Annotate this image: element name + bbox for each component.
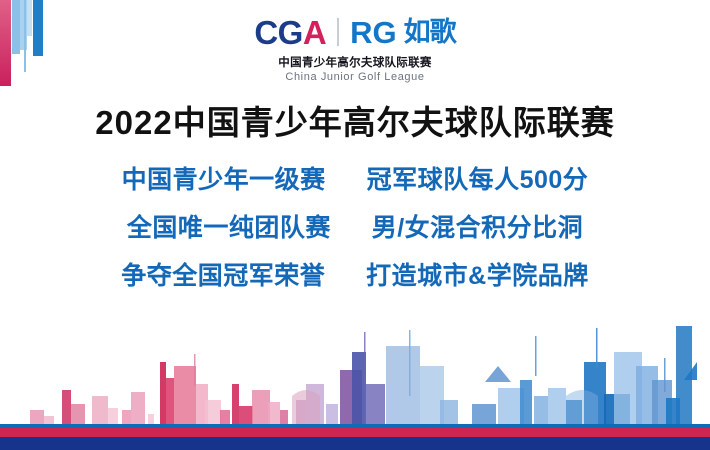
skyline-building bbox=[666, 398, 680, 424]
skyline-building bbox=[166, 378, 174, 424]
logo-subtitle-cn: 中国青少年高尔夫球队际联赛 bbox=[0, 54, 710, 70]
skyline-building bbox=[122, 410, 131, 424]
feature-list: 中国青少年一级赛 冠军球队每人500分 全国唯一纯团队赛 男/女混合积分比洞 争… bbox=[0, 158, 710, 302]
skyline-building bbox=[232, 384, 239, 424]
skyline-building bbox=[326, 404, 338, 424]
cga-wordmark: CGA bbox=[254, 16, 326, 49]
skyline-building bbox=[205, 400, 221, 424]
skyline-building bbox=[252, 390, 270, 424]
feature-line: 中国青少年一级赛 冠军球队每人500分 bbox=[0, 158, 710, 206]
footer-stripe-navy bbox=[0, 437, 710, 450]
logo-wordmark-row: CGA RG 如歌 bbox=[254, 14, 455, 50]
logo-divider bbox=[337, 18, 339, 46]
feature-line-right: 冠军球队每人500分 bbox=[367, 158, 589, 202]
skyline-building bbox=[44, 416, 54, 424]
logo-subtitle-en: China Junior Golf League bbox=[0, 71, 710, 83]
skyline-building bbox=[548, 388, 566, 424]
logo-block: CGA RG 如歌 中国青少年高尔夫球队际联赛 China Junior Gol… bbox=[0, 14, 710, 83]
skyline-building bbox=[352, 352, 366, 424]
skyline-building bbox=[160, 362, 166, 424]
rg-wordmark: RG bbox=[350, 17, 397, 48]
rugo-wordmark: 如歌 bbox=[404, 19, 456, 46]
skyline-building bbox=[268, 402, 280, 424]
skyline-building bbox=[520, 380, 532, 424]
skyline-building bbox=[62, 390, 71, 424]
skyline-building bbox=[440, 400, 458, 424]
feature-line-left: 全国唯一纯团队赛 bbox=[127, 206, 331, 250]
feature-line-right: 男/女混合积分比洞 bbox=[372, 206, 583, 250]
skyline-building bbox=[71, 404, 85, 424]
skyline-building bbox=[108, 408, 118, 424]
skyline-building bbox=[148, 414, 154, 424]
skyline-building bbox=[174, 366, 196, 424]
page-title: 2022中国青少年高尔夫球队际联赛 bbox=[0, 96, 710, 144]
skyline-building bbox=[92, 396, 108, 424]
footer-stripe-crimson bbox=[0, 428, 710, 437]
skyline-building bbox=[220, 410, 230, 424]
skyline-building bbox=[30, 410, 44, 424]
skyline-building bbox=[534, 396, 548, 424]
city-skyline-graphic bbox=[0, 284, 710, 424]
skyline-building bbox=[472, 404, 496, 424]
feature-line: 全国唯一纯团队赛 男/女混合积分比洞 bbox=[0, 206, 710, 254]
feature-line-left: 中国青少年一级赛 bbox=[122, 158, 326, 202]
skyline-building bbox=[365, 384, 385, 424]
skyline-building bbox=[386, 346, 420, 424]
cga-wordmark-a: A bbox=[303, 14, 326, 51]
skyline-building bbox=[131, 392, 145, 424]
cga-wordmark-cg: CG bbox=[254, 14, 303, 51]
skyline-building bbox=[239, 406, 253, 424]
poster-canvas: CGA RG 如歌 中国青少年高尔夫球队际联赛 China Junior Gol… bbox=[0, 0, 710, 450]
skyline-building bbox=[280, 410, 288, 424]
